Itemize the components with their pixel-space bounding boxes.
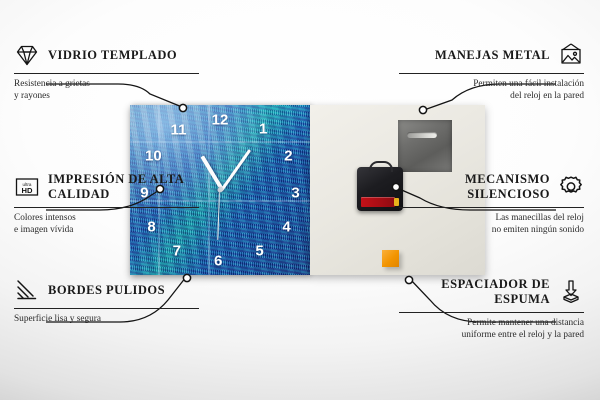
face-grid-line bbox=[130, 141, 310, 143]
clock-mechanism bbox=[357, 167, 403, 211]
clock-numeral-11: 11 bbox=[171, 123, 187, 138]
callout-divider bbox=[14, 308, 199, 309]
clock-minute-hand bbox=[220, 149, 251, 192]
callout-divider bbox=[14, 207, 199, 208]
face-grid-line bbox=[208, 105, 210, 275]
clock-numeral-3: 3 bbox=[291, 186, 299, 201]
clock-center-cap bbox=[218, 188, 223, 193]
hanger-slot bbox=[407, 132, 437, 138]
gear-icon bbox=[558, 174, 584, 200]
callout-divider bbox=[399, 312, 584, 313]
foam-spacer bbox=[382, 250, 399, 267]
clock-numeral-7: 7 bbox=[173, 244, 181, 259]
svg-text:HD: HD bbox=[22, 186, 33, 195]
foam-spacer-icon bbox=[558, 279, 584, 305]
product-infographic: 12 1 2 3 4 5 6 7 8 9 10 11 bbox=[0, 0, 600, 400]
clock-numeral-5: 5 bbox=[255, 244, 263, 259]
clock-numeral-4: 4 bbox=[282, 220, 290, 235]
callout-title: BORDES PULIDOS bbox=[48, 283, 165, 298]
hanging-frame-icon bbox=[558, 42, 584, 68]
clock-second-hand bbox=[217, 190, 220, 240]
callout-impresion-alta-calidad: ultra HD IMPRESIÓN DE ALTA CALIDAD Color… bbox=[14, 172, 199, 236]
callout-description: Resistencia a grietas y rayones bbox=[14, 78, 199, 103]
callout-divider bbox=[399, 73, 584, 74]
callout-title: IMPRESIÓN DE ALTA CALIDAD bbox=[48, 172, 199, 202]
ultra-hd-icon: ultra HD bbox=[14, 174, 40, 200]
battery bbox=[361, 197, 395, 207]
clock-numeral-10: 10 bbox=[145, 149, 162, 164]
callout-vidrio-templado: VIDRIO TEMPLADO Resistencia a grietas y … bbox=[14, 42, 199, 103]
clock-numeral-1: 1 bbox=[259, 122, 267, 137]
callout-manejas-metal: MANEJAS METAL Permiten una fácil instala… bbox=[399, 42, 584, 103]
callout-description: Las manecillas del reloj no emiten ningú… bbox=[399, 212, 584, 237]
callout-description: Permiten una fácil instalación del reloj… bbox=[399, 78, 584, 103]
clock-numeral-12: 12 bbox=[212, 113, 229, 128]
callout-divider bbox=[14, 73, 199, 74]
clock-numeral-6: 6 bbox=[214, 254, 222, 269]
polished-edges-icon bbox=[14, 277, 40, 303]
callout-title: VIDRIO TEMPLADO bbox=[48, 48, 177, 63]
callout-title: MECANISMO SILENCIOSO bbox=[399, 172, 550, 202]
clock-hour-hand bbox=[200, 156, 223, 190]
clock-numeral-2: 2 bbox=[284, 149, 292, 164]
callout-divider bbox=[399, 207, 584, 208]
diamond-icon bbox=[14, 42, 40, 68]
callout-title: MANEJAS METAL bbox=[435, 48, 550, 63]
callout-bordes-pulidos: BORDES PULIDOS Superficie lisa y segura bbox=[14, 277, 199, 325]
callout-description: Permite mantener una distancia uniforme … bbox=[399, 317, 584, 342]
callout-mecanismo-silencioso: MECANISMO SILENCIOSO Las manecillas del … bbox=[399, 172, 584, 236]
mechanism-hanger-loop bbox=[369, 161, 393, 172]
callout-description: Superficie lisa y segura bbox=[14, 313, 199, 325]
callout-title: ESPACIADOR DE ESPUMA bbox=[399, 277, 550, 307]
metal-hanger-plate bbox=[398, 120, 452, 172]
callout-espaciador-espuma: ESPACIADOR DE ESPUMA Permite mantener un… bbox=[399, 277, 584, 341]
callout-description: Colores intensos e imagen vívida bbox=[14, 212, 199, 237]
